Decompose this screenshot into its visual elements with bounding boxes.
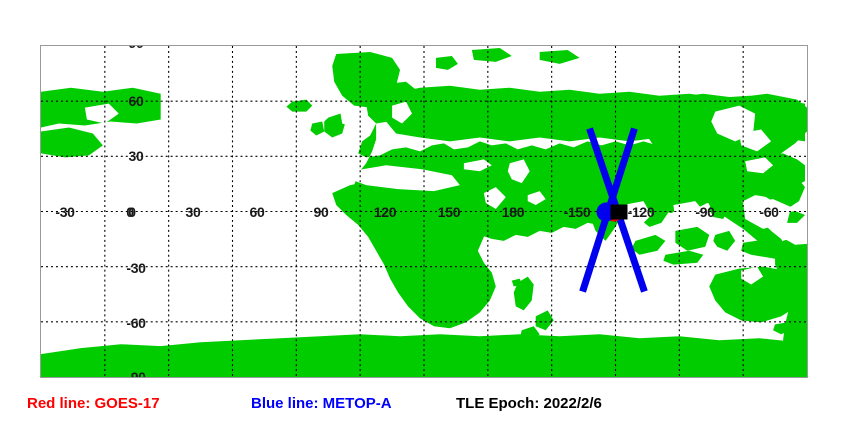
lon-tick-180: 180 <box>502 205 524 219</box>
lon-tick-90: 90 <box>314 205 329 219</box>
lon-tick-150: 150 <box>438 205 460 219</box>
lat-tick--30: -30 <box>126 261 145 275</box>
map-canvas <box>41 46 807 377</box>
lon-tick--60: -60 <box>759 205 778 219</box>
lat-tick-90: 90 <box>129 45 144 50</box>
lon-tick-30: 30 <box>186 205 201 219</box>
lon-tick--150: -150 <box>564 205 591 219</box>
lat-tick-60: 60 <box>129 94 144 108</box>
lon-tick--90: -90 <box>695 205 714 219</box>
world-map[interactable]: -30 0 30 60 90 120 150 180 -150 -120 -90… <box>40 45 808 378</box>
lat-tick--60: -60 <box>126 316 145 330</box>
lat-tick-0: 0 <box>128 205 136 219</box>
legend-goes-17[interactable]: Red line: GOES-17 <box>27 396 160 411</box>
lon-tick--120: -120 <box>628 205 655 219</box>
lon-tick-120: 120 <box>374 205 396 219</box>
lon-tick-60: 60 <box>250 205 265 219</box>
lat-tick--90: -90 <box>126 370 145 378</box>
satellite-map-page: -30 0 30 60 90 120 150 180 -150 -120 -90… <box>0 0 850 425</box>
lon-tick--120-occluder <box>611 205 628 220</box>
lat-tick-30: 30 <box>129 149 144 163</box>
legend-tle-epoch: TLE Epoch: 2022/2/6 <box>456 396 602 411</box>
legend-bar: Red line: GOES-17 Blue line: METOP-A TLE… <box>0 396 850 420</box>
lon-tick--30: -30 <box>55 205 74 219</box>
legend-metop-a[interactable]: Blue line: METOP-A <box>251 396 392 411</box>
